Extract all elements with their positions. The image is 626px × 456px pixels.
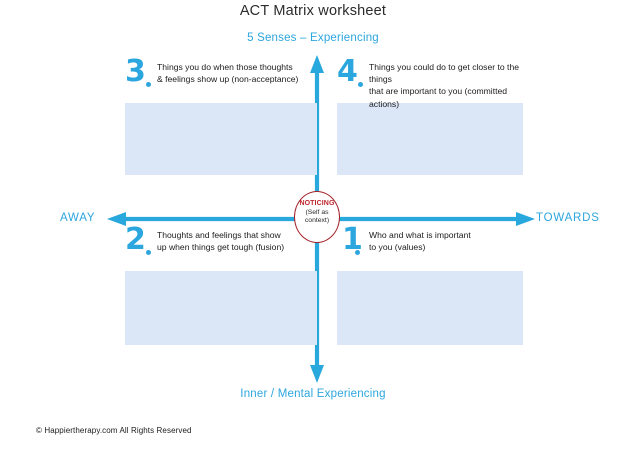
quadrant-4: 4 Things you could do to get closer to t… xyxy=(337,63,531,175)
act-matrix-worksheet: ACT Matrix worksheet 5 Senses – Experien… xyxy=(0,0,626,456)
arrowhead-left-icon xyxy=(107,212,126,226)
noticing-title: NOTICING xyxy=(295,200,339,208)
quadrant-3-header: 3 Things you do when those thoughts & fe… xyxy=(125,63,319,97)
axis-label-towards: TOWARDS xyxy=(536,212,600,224)
quadrant-4-prompt-line1: Things you could do to get closer to the… xyxy=(369,62,519,84)
quadrant-4-prompt-line2: that are important to you (committed act… xyxy=(369,86,507,108)
axis-label-away: AWAY xyxy=(60,212,95,224)
quadrant-1-answer-box[interactable] xyxy=(337,271,523,345)
quadrant-2-answer-box[interactable] xyxy=(125,271,317,345)
quadrant-1-prompt-line1: Who and what is important xyxy=(369,230,471,240)
quadrant-3-prompt: Things you do when those thoughts & feel… xyxy=(157,61,298,85)
noticing-subtitle-line1: (Self as xyxy=(305,209,328,216)
quadrant-2: 2 Thoughts and feelings that show up whe… xyxy=(125,231,319,345)
quadrant-2-prompt: Thoughts and feelings that show up when … xyxy=(157,229,284,253)
arrowhead-down-icon xyxy=(310,365,324,383)
quadrant-1-header: 1 Who and what is important to you (valu… xyxy=(337,231,531,265)
quadrant-1-prompt: Who and what is important to you (values… xyxy=(369,229,471,253)
quadrant-4-answer-box[interactable] xyxy=(337,103,523,175)
quadrant-3-numeral-dot xyxy=(146,82,151,87)
quadrant-4-header: 4 Things you could do to get closer to t… xyxy=(337,63,531,97)
quadrant-1-prompt-line2: to you (values) xyxy=(369,242,425,252)
quadrant-2-prompt-line2: up when things get tough (fusion) xyxy=(157,242,284,252)
quadrant-1-numeral-dot xyxy=(355,250,360,255)
quadrant-2-numeral-dot xyxy=(146,250,151,255)
axis-label-top: 5 Senses – Experiencing xyxy=(0,32,626,44)
quadrant-3-numeral: 3 xyxy=(125,57,146,87)
noticing-center-circle: NOTICING (Self as context) xyxy=(294,191,340,243)
arrowhead-right-icon xyxy=(516,212,535,226)
quadrant-3-prompt-line2: & feelings show up (non-acceptance) xyxy=(157,74,298,84)
page-title: ACT Matrix worksheet xyxy=(0,3,626,19)
quadrant-2-numeral: 2 xyxy=(125,225,146,255)
noticing-subtitle-line2: context) xyxy=(305,217,329,224)
noticing-subtitle: (Self as context) xyxy=(295,209,339,226)
axis-label-bottom: Inner / Mental Experiencing xyxy=(0,388,626,400)
quadrant-4-prompt: Things you could do to get closer to the… xyxy=(369,61,531,110)
quadrant-2-header: 2 Thoughts and feelings that show up whe… xyxy=(125,231,319,265)
quadrant-3-prompt-line1: Things you do when those thoughts xyxy=(157,62,293,72)
quadrant-4-numeral-dot xyxy=(358,82,363,87)
quadrant-3-answer-box[interactable] xyxy=(125,103,317,175)
footer-copyright: © Happiertherapy.com All Rights Reserved xyxy=(36,426,192,435)
quadrant-2-prompt-line1: Thoughts and feelings that show xyxy=(157,230,281,240)
quadrant-1: 1 Who and what is important to you (valu… xyxy=(337,231,531,345)
quadrant-3: 3 Things you do when those thoughts & fe… xyxy=(125,63,319,175)
quadrant-4-numeral: 4 xyxy=(337,57,358,87)
